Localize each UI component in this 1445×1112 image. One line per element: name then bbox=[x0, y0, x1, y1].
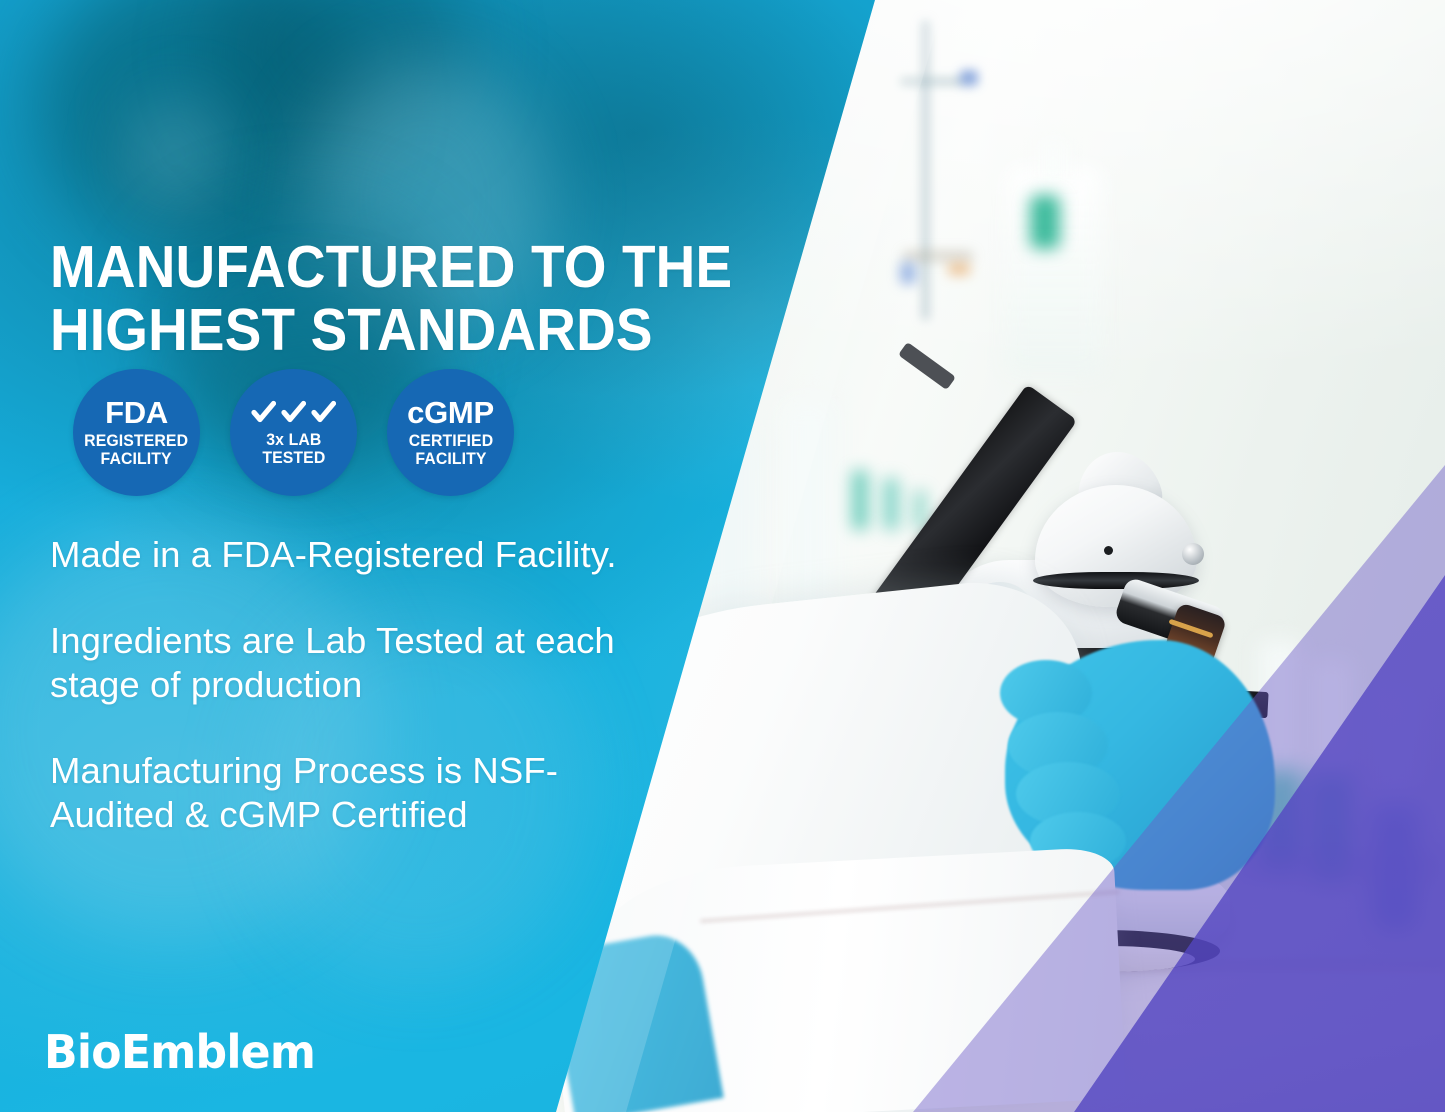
badge-cgmp-certified-facility: cGMP CERTIFIED FACILITY bbox=[387, 369, 514, 496]
microscope-screw bbox=[1104, 546, 1113, 555]
badge-3x-lab-tested: 3x LAB TESTED bbox=[230, 369, 357, 496]
teal-vial-2 bbox=[884, 478, 898, 530]
badge-cgmp-subtitle-line1: CERTIFIED bbox=[408, 432, 492, 450]
orange-clip bbox=[948, 263, 970, 275]
brand-logo: BioEmblem bbox=[44, 1025, 315, 1079]
badge-cgmp-subtitle: CERTIFIED FACILITY bbox=[408, 432, 492, 468]
badge-cgmp-title: cGMP bbox=[407, 397, 494, 429]
badge-lab-subtitle-line2: TESTED bbox=[262, 449, 325, 467]
technician-ear bbox=[135, 105, 215, 205]
badge-fda-registered-facility: FDA REGISTERED FACILITY bbox=[73, 369, 200, 496]
badge-fda-subtitle-line2: FACILITY bbox=[85, 450, 189, 468]
blue-clip bbox=[960, 70, 978, 86]
badge-lab-subtitle: 3x LAB TESTED bbox=[262, 431, 325, 467]
badge-fda-title: FDA bbox=[105, 397, 168, 429]
badge-lab-subtitle-line1: 3x LAB bbox=[262, 431, 325, 449]
lab-stand-arm-lower bbox=[903, 252, 973, 260]
wash-bottle-neck bbox=[1040, 140, 1066, 186]
body-paragraph-2: Ingredients are Lab Tested at each stage… bbox=[50, 619, 620, 707]
triple-checkmark-icon bbox=[251, 400, 336, 425]
page-title: MANUFACTURED TO THE HIGHEST STANDARDS bbox=[50, 236, 775, 362]
blue-clip-lower bbox=[900, 262, 916, 284]
badge-fda-subtitle: REGISTERED FACILITY bbox=[85, 432, 189, 468]
microscope-knob bbox=[1182, 543, 1204, 565]
badge-cgmp-subtitle-line2: FACILITY bbox=[408, 450, 492, 468]
body-copy: Made in a FDA-Registered Facility. Ingre… bbox=[50, 533, 620, 837]
body-paragraph-3: Manufacturing Process is NSF-Audited & c… bbox=[50, 749, 620, 837]
marketing-banner: MANUFACTURED TO THE HIGHEST STANDARDS FD… bbox=[0, 0, 1445, 1112]
teal-vial-1 bbox=[852, 470, 868, 530]
microscope-eyepiece-top bbox=[898, 342, 956, 390]
body-paragraph-1: Made in a FDA-Registered Facility. bbox=[50, 533, 620, 577]
microscope-head-ring bbox=[1033, 572, 1199, 589]
wash-bottle-green-cap bbox=[1030, 195, 1060, 249]
badge-fda-subtitle-line1: REGISTERED bbox=[85, 432, 189, 450]
certification-badges: FDA REGISTERED FACILITY 3x LAB TESTED cG… bbox=[73, 369, 514, 496]
